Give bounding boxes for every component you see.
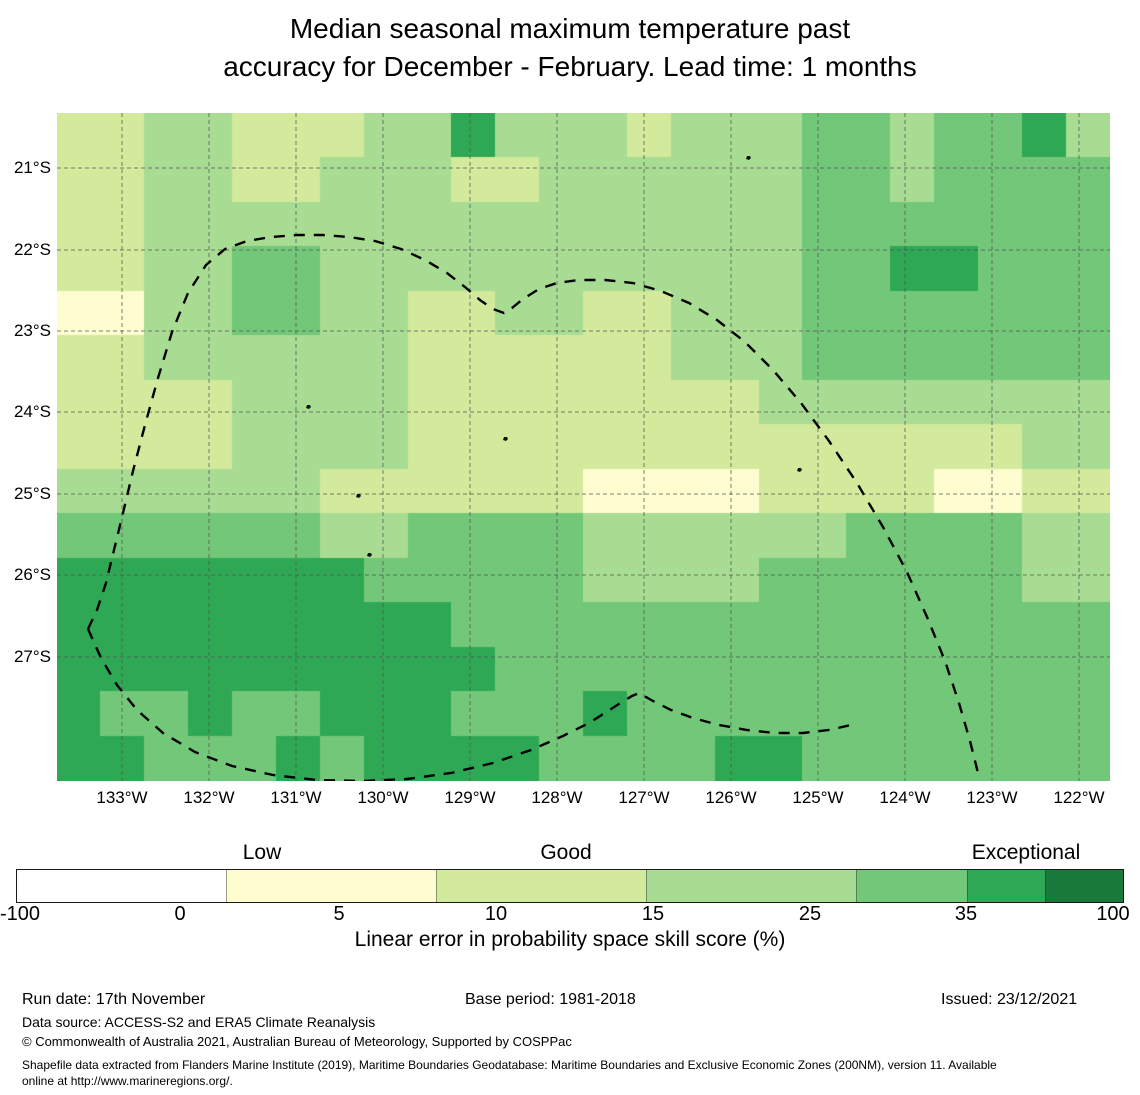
eez-boundary-line [88, 235, 978, 773]
x-tick-label-132W: 132°W [183, 788, 234, 808]
footer-run-date: Run date: 17th November [22, 991, 205, 1009]
colorbar-segment-3 [646, 870, 856, 902]
page-title: Median seasonal maximum temperature past… [0, 10, 1140, 86]
y-tick-label-26S: 26°S [14, 565, 51, 585]
colorbar-tick-15: 15 [642, 903, 664, 926]
island-marker-1 [503, 437, 508, 441]
colorbar-tick-10: 10 [485, 903, 507, 926]
x-tick-label-123W: 123°W [966, 788, 1017, 808]
footer-data-source: Data source: ACCESS-S2 and ERA5 Climate … [22, 1014, 375, 1030]
y-tick-label-22S: 22°S [14, 240, 51, 260]
gridlines [57, 113, 1110, 781]
island-markers [306, 156, 802, 557]
footer-base-period: Base period: 1981-2018 [465, 991, 636, 1009]
colorbar [16, 869, 1124, 903]
island-marker-0 [306, 405, 311, 409]
colorbar-tick--100: -100 [0, 903, 40, 926]
colorbar-segment-5 [967, 870, 1045, 902]
colorbar-tick-35: 35 [955, 903, 977, 926]
island-marker-5 [746, 156, 751, 160]
x-tick-label-126W: 126°W [705, 788, 756, 808]
colorbar-segment-1 [226, 870, 436, 902]
x-tick-label-133W: 133°W [96, 788, 147, 808]
colorbar-axis-label: Linear error in probability space skill … [0, 928, 1140, 952]
colorbar-segment-0 [17, 870, 226, 902]
x-tick-label-130W: 130°W [357, 788, 408, 808]
y-tick-label-24S: 24°S [14, 402, 51, 422]
footer-shapefile-credit: Shapefile data extracted from Flanders M… [22, 1057, 1132, 1089]
x-tick-label-131W: 131°W [270, 788, 321, 808]
x-tick-label-128W: 128°W [531, 788, 582, 808]
footer-copyright: © Commonwealth of Australia 2021, Austra… [22, 1034, 572, 1049]
colorbar-tick-0: 0 [174, 903, 185, 926]
map-overlay [57, 113, 1110, 781]
colorbar-segment-2 [436, 870, 646, 902]
colorbar-segment-4 [856, 870, 967, 902]
island-marker-4 [367, 553, 372, 557]
x-tick-label-124W: 124°W [879, 788, 930, 808]
island-marker-3 [797, 468, 802, 472]
y-tick-label-27S: 27°S [14, 647, 51, 667]
x-tick-label-127W: 127°W [618, 788, 669, 808]
x-tick-label-122W: 122°W [1053, 788, 1104, 808]
colorbar-tick-25: 25 [799, 903, 821, 926]
island-marker-2 [356, 494, 361, 498]
colorbar-category-exceptional: Exceptional [972, 841, 1081, 865]
y-tick-label-25S: 25°S [14, 484, 51, 504]
y-tick-label-21S: 21°S [14, 158, 51, 178]
x-tick-label-129W: 129°W [444, 788, 495, 808]
x-tick-label-125W: 125°W [792, 788, 843, 808]
colorbar-tick-5: 5 [333, 903, 344, 926]
map-plot-area [57, 113, 1110, 781]
colorbar-segment-6 [1045, 870, 1123, 902]
footer-issued-date: Issued: 23/12/2021 [941, 991, 1077, 1009]
colorbar-tick-100: 100 [1096, 903, 1129, 926]
y-tick-label-23S: 23°S [14, 321, 51, 341]
colorbar-category-low: Low [243, 841, 282, 865]
colorbar-category-good: Good [540, 841, 591, 865]
